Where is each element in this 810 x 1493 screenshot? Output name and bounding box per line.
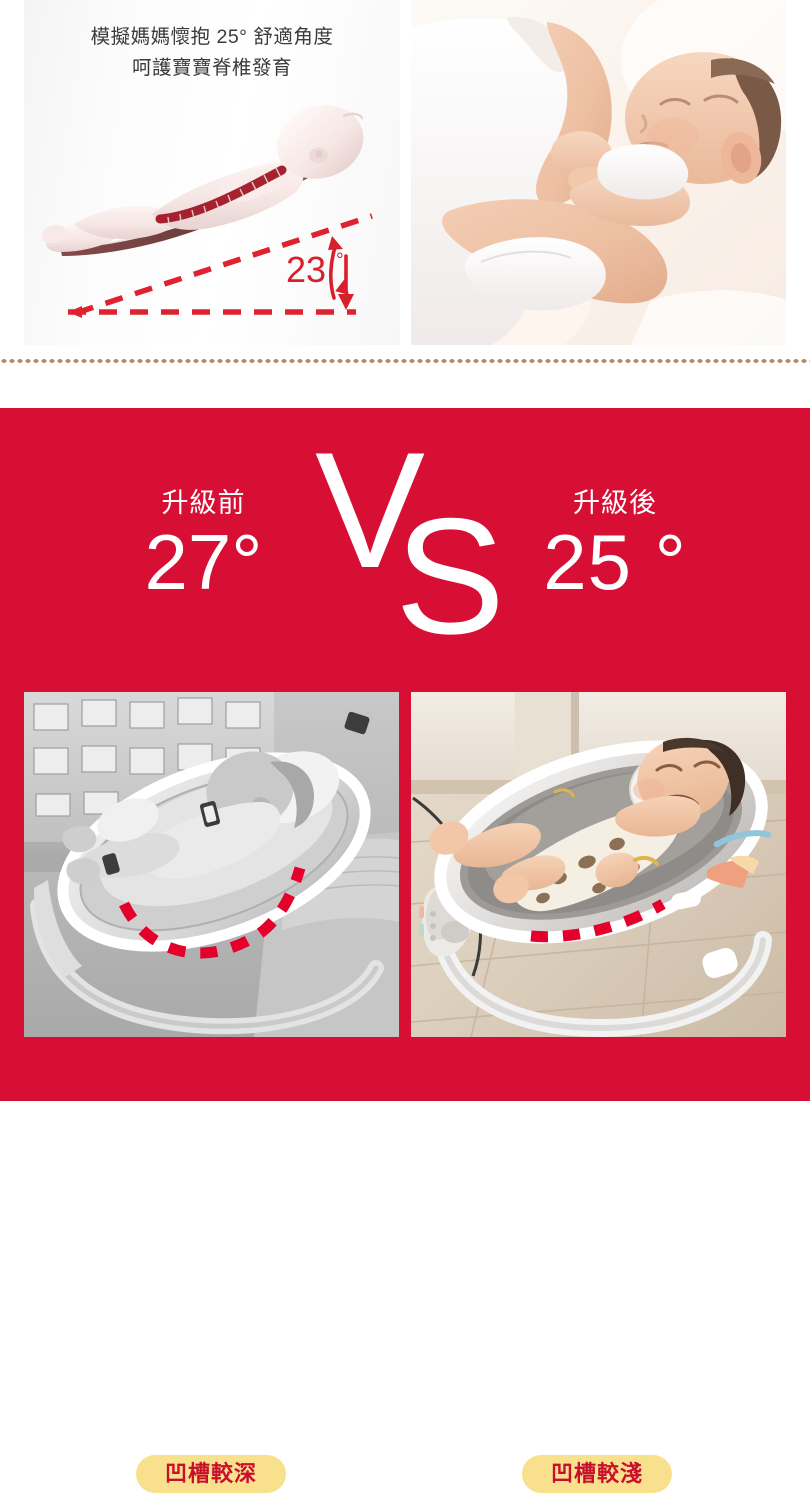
after-upgrade-value: 25 °: [500, 522, 730, 602]
before-upgrade-block: 升級前 27°: [96, 486, 311, 602]
spine-angle-diagram: 模擬媽媽懷抱 25° 舒適角度 呵護寶寶脊椎發育: [24, 0, 400, 345]
before-upgrade-value: 27°: [96, 522, 311, 602]
after-upgrade-block: 升級後 25 °: [500, 486, 730, 602]
angle-value: 23: [286, 249, 326, 290]
before-upgrade-label: 升級前: [96, 486, 311, 520]
caption-before-upgrade: 凹槽較深: [136, 1455, 286, 1493]
after-upgrade-photo: [411, 692, 786, 1037]
before-upgrade-photo: [24, 692, 399, 1037]
top-section: 模擬媽媽懷抱 25° 舒適角度 呵護寶寶脊椎發育: [0, 0, 810, 345]
angle-indicator: [328, 236, 354, 310]
diagram-title: 模擬媽媽懷抱 25° 舒適角度 呵護寶寶脊椎發育: [24, 22, 400, 84]
after-upgrade-label: 升級後: [500, 486, 730, 520]
caption-after-upgrade: 凹槽較淺: [522, 1455, 672, 1493]
mother-holding-baby-photo: [411, 0, 786, 345]
angle-degree-symbol: °: [336, 250, 344, 271]
vs-header: 升級前 27° V S 升級後 25 °: [0, 408, 810, 692]
dotted-divider: [0, 358, 810, 364]
baby-figure: [42, 96, 373, 252]
diagram-illustration: 23 °: [24, 96, 400, 345]
upgrade-comparison-section: 升級前 27° V S 升級後 25 °: [0, 408, 810, 1101]
vs-mark: V S: [313, 452, 503, 667]
vs-letter-s: S: [395, 494, 505, 659]
